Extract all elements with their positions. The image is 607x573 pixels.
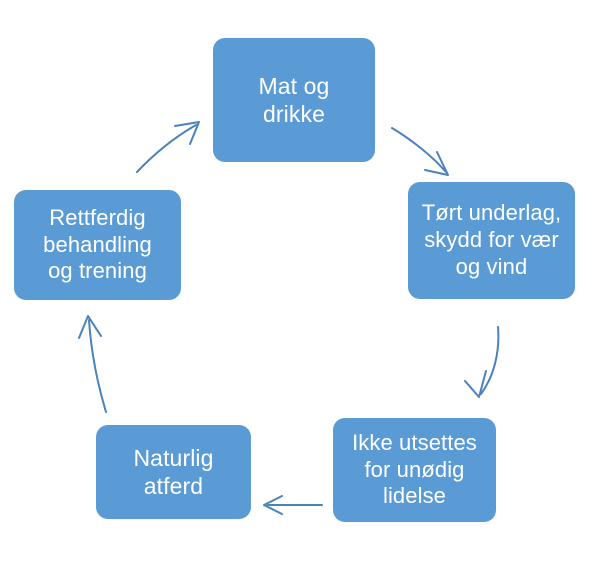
- cycle-diagram: Mat og drikke Tørt underlag, skydd for v…: [0, 0, 607, 573]
- node-treatment-label: Rettferdig behandling og trening: [37, 205, 158, 285]
- node-food-label: Mat og drikke: [253, 72, 336, 128]
- node-suffering[interactable]: Ikke utsettes for unødig lidelse: [333, 418, 496, 522]
- straight-arrow-icon-suffering-to-behaviour: [264, 496, 322, 514]
- curved-arrow-icon-shelter-to-suffering: [465, 327, 498, 397]
- node-food[interactable]: Mat og drikke: [213, 38, 375, 162]
- node-behaviour-label: Naturlig atferd: [127, 444, 219, 500]
- node-behaviour[interactable]: Naturlig atferd: [96, 425, 251, 519]
- curved-arrow-icon-behaviour-to-treatment: [79, 316, 106, 412]
- node-shelter-label: Tørt underlag, skydd for vær og vind: [416, 200, 568, 280]
- node-shelter[interactable]: Tørt underlag, skydd for vær og vind: [408, 182, 575, 299]
- node-suffering-label: Ikke utsettes for unødig lidelse: [346, 430, 483, 510]
- curved-arrow-icon-food-to-shelter: [392, 128, 448, 175]
- node-treatment[interactable]: Rettferdig behandling og trening: [14, 190, 181, 300]
- curved-arrow-icon-treatment-to-food: [137, 122, 199, 172]
